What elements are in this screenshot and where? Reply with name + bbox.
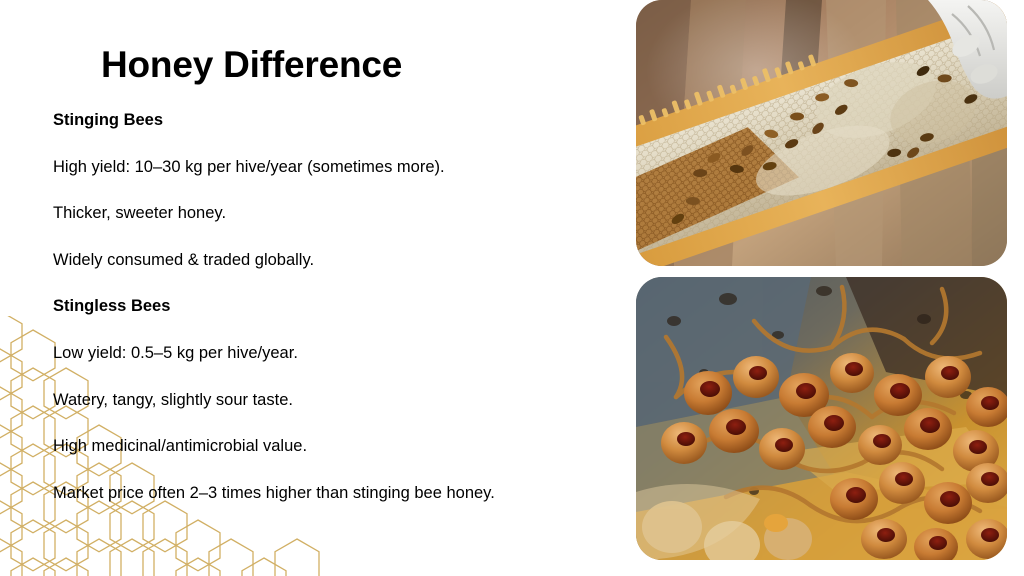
photo-stack [636, 0, 1007, 576]
list-item: High medicinal/antimicrobial value. [53, 438, 613, 485]
content-list: Stinging Bees High yield: 10–30 kg per h… [53, 112, 613, 531]
list-item: Thicker, sweeter honey. [53, 205, 613, 252]
stingless-bee-honey-pots-photo [636, 277, 1007, 560]
page-title: Honey Difference [101, 44, 402, 85]
list-item: Widely consumed & traded globally. [53, 252, 613, 299]
list-item-text: Thicker, sweeter honey. [53, 205, 226, 222]
list-item: Watery, tangy, slightly sour taste. [53, 392, 613, 439]
list-item-heading-stinging: Stinging Bees [53, 112, 613, 159]
list-item-text: High medicinal/antimicrobial value. [53, 438, 307, 455]
list-item: Low yield: 0.5–5 kg per hive/year. [53, 345, 613, 392]
list-item-text: High yield: 10–30 kg per hive/year (some… [53, 159, 445, 176]
list-item-text: Watery, tangy, slightly sour taste. [53, 392, 293, 409]
text-column: Honey Difference Stinging Bees High yiel… [0, 0, 620, 576]
list-item-text: Stinging Bees [53, 112, 163, 129]
list-item-text: Widely consumed & traded globally. [53, 252, 314, 269]
photo-artwork [636, 277, 1007, 560]
stinging-bee-honeycomb-frame-photo [636, 0, 1007, 266]
list-item: Market price often 2–3 times higher than… [53, 485, 613, 532]
slide-canvas: Honey Difference Stinging Bees High yiel… [0, 0, 1024, 576]
list-item-text: Stingless Bees [53, 298, 170, 315]
list-item-text: Market price often 2–3 times higher than… [53, 485, 495, 502]
photo-artwork [636, 0, 1007, 266]
list-item-text: Low yield: 0.5–5 kg per hive/year. [53, 345, 298, 362]
list-item: High yield: 10–30 kg per hive/year (some… [53, 159, 613, 206]
list-item-heading-stingless: Stingless Bees [53, 298, 613, 345]
